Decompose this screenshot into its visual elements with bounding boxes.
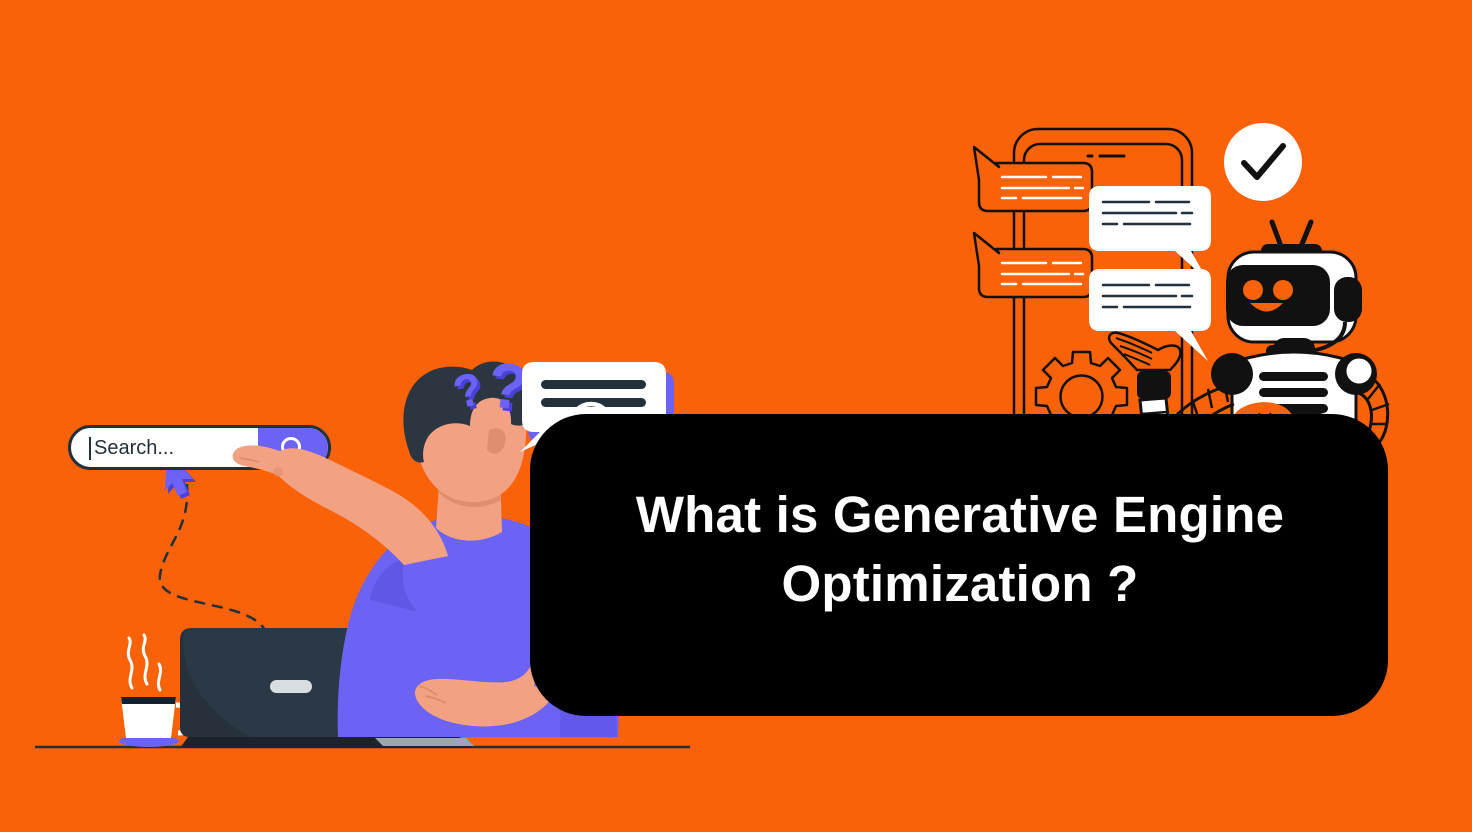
question-marks: ? ? ? ?: [448, 348, 534, 427]
poster-canvas: ? ? ? ?: [0, 0, 1472, 832]
chat-bubble-orange: [974, 147, 1092, 211]
bubble-text-line: [541, 380, 646, 389]
robot-torso-bar: [1259, 388, 1328, 397]
search-icon: [278, 435, 308, 463]
coffee-steam: [128, 635, 160, 690]
page-title-line-2: Optimization ?: [560, 549, 1360, 618]
robot-eye: [1243, 280, 1263, 300]
search-caret: [89, 437, 91, 460]
chat-bubble-white: [1089, 186, 1211, 281]
robot-eye: [1273, 280, 1293, 300]
check-badge: [1224, 123, 1302, 201]
search-input[interactable]: Search...: [94, 437, 174, 460]
search-bar[interactable]: Search...: [68, 425, 331, 470]
robot-torso-bar: [1259, 372, 1328, 381]
laptop-logo-bar: [270, 680, 312, 693]
chat-bubble-orange: [974, 233, 1092, 297]
page-title: What is Generative Engine Optimization ?: [560, 480, 1360, 618]
page-title-line-1: What is Generative Engine: [560, 480, 1360, 549]
search-submit-button[interactable]: [258, 428, 328, 467]
